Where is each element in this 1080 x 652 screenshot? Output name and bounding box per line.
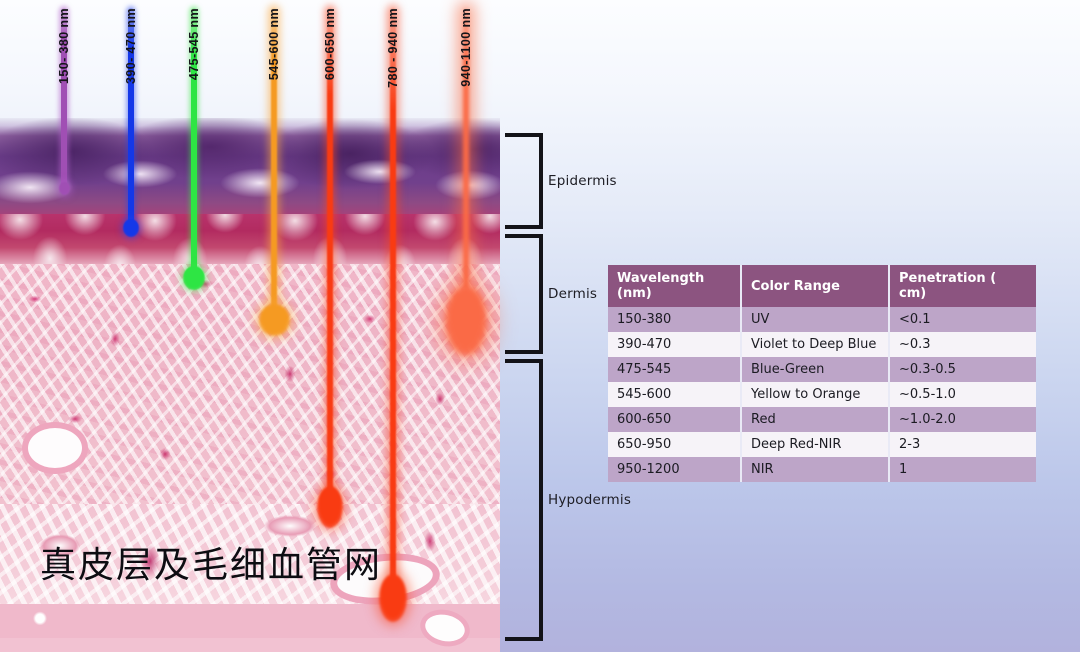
beam-penetration-bulb xyxy=(259,304,290,336)
cell-color-range: Red xyxy=(741,407,889,432)
wavelength-label-7: 940-1100 nm xyxy=(459,8,473,87)
cell-wavelength: 950-1200 xyxy=(608,457,741,482)
table-header-row: Wavelength (nm) Color Range Penetration … xyxy=(608,265,1036,307)
penetration-table: Wavelength (nm) Color Range Penetration … xyxy=(608,265,1036,482)
bracket-bottom-arm xyxy=(505,637,543,641)
cell-wavelength: 390-470 xyxy=(608,332,741,357)
light-beam-5 xyxy=(310,8,350,528)
bracket-spine xyxy=(539,359,543,641)
cell-color-range: UV xyxy=(741,307,889,332)
cell-penetration: <0.1 xyxy=(889,307,1036,332)
col-header-color-range: Color Range xyxy=(741,265,889,307)
col-header-wavelength: Wavelength (nm) xyxy=(608,265,741,307)
table-row: 600-650Red~1.0-2.0 xyxy=(608,407,1036,432)
beam-penetration-bulb xyxy=(317,486,343,528)
beam-penetration-bulb xyxy=(445,286,487,356)
adipose-tissue-layer xyxy=(0,638,500,652)
table-row: 390-470Violet to Deep Blue~0.3 xyxy=(608,332,1036,357)
table-row: 650-950Deep Red-NIR2-3 xyxy=(608,432,1036,457)
table-row: 150-380UV<0.1 xyxy=(608,307,1036,332)
dermis-tissue-layer xyxy=(0,264,500,514)
cell-wavelength: 600-650 xyxy=(608,407,741,432)
beam-penetration-bulb xyxy=(379,574,407,622)
bracket-top-arm xyxy=(505,359,543,363)
layer-label-dermis: Dermis xyxy=(548,286,597,302)
layer-label-epidermis: Epidermis xyxy=(548,173,617,189)
bracket-dermis xyxy=(505,234,543,354)
cell-color-range: Blue-Green xyxy=(741,357,889,382)
table-row: 950-1200NIR1 xyxy=(608,457,1036,482)
cell-color-range: NIR xyxy=(741,457,889,482)
bracket-spine xyxy=(539,234,543,354)
cell-color-range: Deep Red-NIR xyxy=(741,432,889,457)
cell-penetration: ~1.0-2.0 xyxy=(889,407,1036,432)
table-head: Wavelength (nm) Color Range Penetration … xyxy=(608,265,1036,307)
bracket-spine xyxy=(539,133,543,229)
cell-penetration: ~0.3 xyxy=(889,332,1036,357)
penetration-table-wrapper: Wavelength (nm) Color Range Penetration … xyxy=(608,265,1036,482)
light-beam-6 xyxy=(373,8,413,622)
bracket-top-arm xyxy=(505,133,543,137)
cell-wavelength: 475-545 xyxy=(608,357,741,382)
bracket-epidermis xyxy=(505,133,543,229)
bracket-bottom-arm xyxy=(505,225,543,229)
layer-label-hypodermis: Hypodermis xyxy=(548,492,631,508)
wavelength-label-4: 545-600 nm xyxy=(267,8,281,80)
cell-penetration: 1 xyxy=(889,457,1036,482)
table-row: 545-600Yellow to Orange~0.5-1.0 xyxy=(608,382,1036,407)
table-row: 475-545Blue-Green~0.3-0.5 xyxy=(608,357,1036,382)
cell-penetration: 2-3 xyxy=(889,432,1036,457)
wavelength-label-2: 390- 470 nm xyxy=(124,8,138,84)
cell-penetration: ~0.5-1.0 xyxy=(889,382,1036,407)
cell-penetration: ~0.3-0.5 xyxy=(889,357,1036,382)
beam-shaft xyxy=(327,8,333,490)
cell-color-range: Yellow to Orange xyxy=(741,382,889,407)
cell-wavelength: 150-380 xyxy=(608,307,741,332)
blood-vessel-medium xyxy=(22,422,88,474)
wavelength-label-5: 600-650 nm xyxy=(323,8,337,80)
bracket-bottom-arm xyxy=(505,350,543,354)
col-header-penetration: Penetration ( cm) xyxy=(889,265,1036,307)
figure-root: 150- 380 nm390- 470 nm475-545 nm545-600 … xyxy=(0,0,1080,652)
beam-penetration-bulb xyxy=(123,219,139,237)
bracket-top-arm xyxy=(505,234,543,238)
bracket-hypodermis xyxy=(505,359,543,641)
basal-layer-tissue xyxy=(0,214,500,270)
cell-color-range: Violet to Deep Blue xyxy=(741,332,889,357)
caption-chinese: 真皮层及毛细血管网 xyxy=(40,536,382,588)
cell-wavelength: 650-950 xyxy=(608,432,741,457)
wavelength-label-6: 780 - 940 nm xyxy=(386,8,400,88)
beam-shaft xyxy=(390,8,396,578)
beam-penetration-bulb xyxy=(59,182,70,195)
table-body: 150-380UV<0.1390-470Violet to Deep Blue~… xyxy=(608,307,1036,482)
beam-penetration-bulb xyxy=(183,266,205,290)
cell-wavelength: 545-600 xyxy=(608,382,741,407)
wavelength-label-3: 475-545 nm xyxy=(187,8,201,80)
wavelength-label-1: 150- 380 nm xyxy=(57,8,71,84)
